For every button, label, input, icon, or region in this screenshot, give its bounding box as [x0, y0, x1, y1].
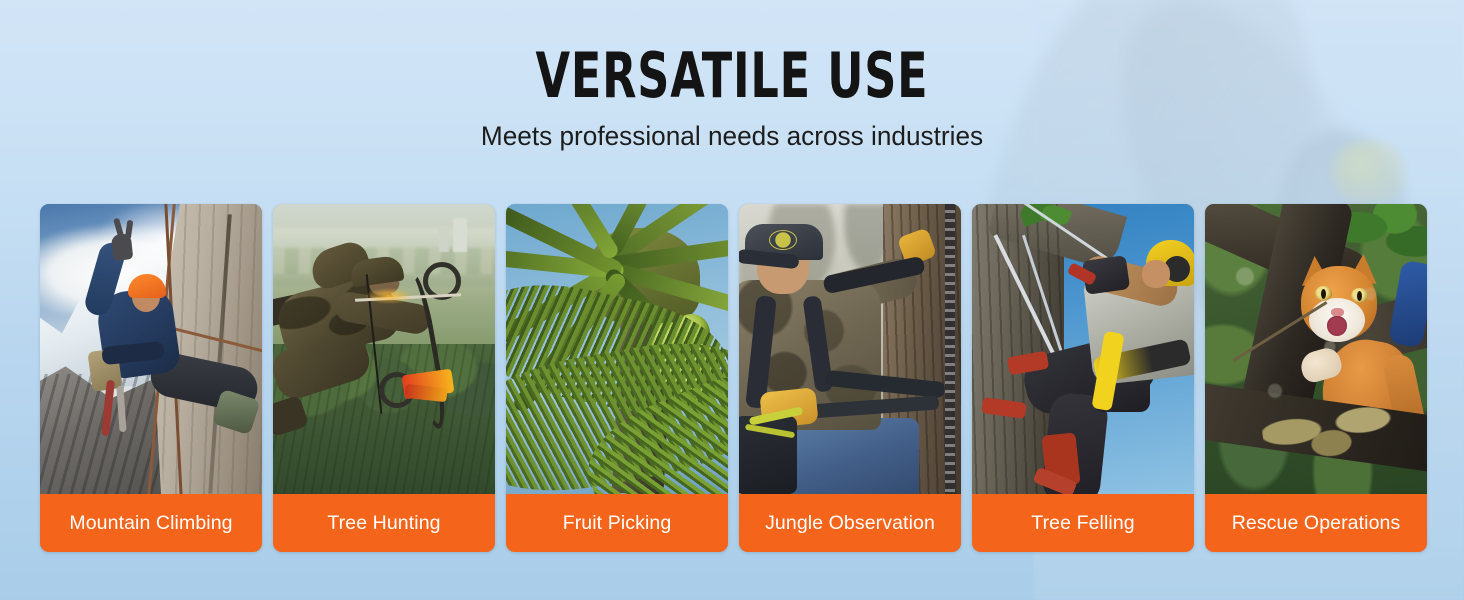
- use-case-label: Tree Felling: [972, 494, 1194, 552]
- use-case-card-tree-hunting[interactable]: Tree Hunting: [273, 204, 495, 552]
- use-case-card-fruit-picking[interactable]: Fruit Picking: [506, 204, 728, 552]
- versatile-use-banner: VERSATILE USE Meets professional needs a…: [0, 0, 1464, 600]
- rescue-operations-image: [1205, 204, 1427, 494]
- use-case-label: Tree Hunting: [273, 494, 495, 552]
- mountain-climbing-image: [40, 204, 262, 494]
- tree-hunting-image: [273, 204, 495, 494]
- tree-felling-image: [972, 204, 1194, 494]
- use-case-label: Rescue Operations: [1205, 494, 1427, 552]
- use-case-card-list: Mountain Climbing Tree Hunting: [40, 204, 1427, 552]
- page-title: VERSATILE USE: [146, 0, 1317, 107]
- banner-header: VERSATILE USE Meets professional needs a…: [0, 0, 1464, 151]
- use-case-card-rescue-operations[interactable]: Rescue Operations: [1205, 204, 1427, 552]
- use-case-card-tree-felling[interactable]: Tree Felling: [972, 204, 1194, 552]
- use-case-label: Mountain Climbing: [40, 494, 262, 552]
- fruit-picking-image: [506, 204, 728, 494]
- use-case-card-jungle-observation[interactable]: Jungle Observation: [739, 204, 961, 552]
- use-case-label: Jungle Observation: [739, 494, 961, 552]
- jungle-observation-image: [739, 204, 961, 494]
- use-case-label: Fruit Picking: [506, 494, 728, 552]
- use-case-card-mountain-climbing[interactable]: Mountain Climbing: [40, 204, 262, 552]
- page-subtitle: Meets professional needs across industri…: [22, 107, 1442, 151]
